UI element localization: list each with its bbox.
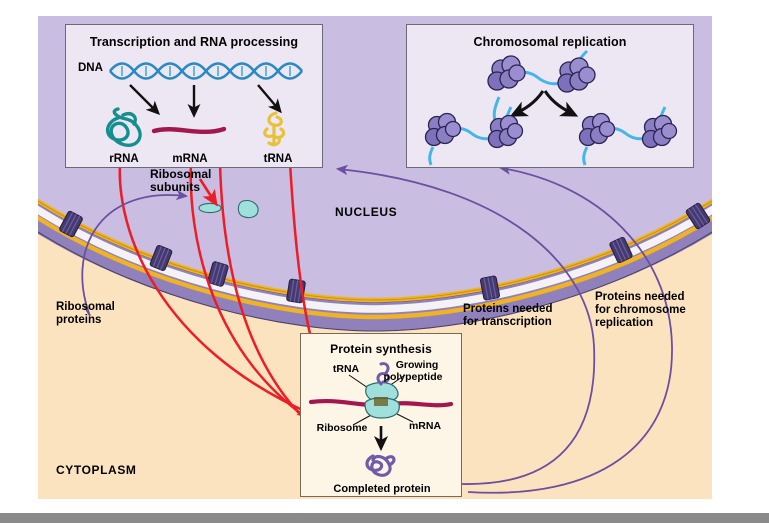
- ribosomal-subunits-line1: Ribosomal: [150, 168, 211, 181]
- mrna-strand-icon: [154, 129, 224, 132]
- dna-double-helix-icon: [110, 64, 302, 79]
- transcription-arrows: [130, 85, 280, 115]
- proteins-replication-line3: replication: [595, 317, 686, 330]
- proteins-transcription-line1: Proteins needed: [463, 303, 552, 316]
- folded-protein-icon: [367, 456, 394, 475]
- ribosomal-subunits-line2: subunits: [150, 181, 211, 194]
- replication-artwork: [407, 25, 695, 169]
- ribosome-icon: [365, 383, 399, 418]
- chromosome-nucleosome-strand-icon: [580, 107, 677, 165]
- bottom-status-bar: [0, 513, 769, 523]
- chromosome-nucleosome-strand-icon: [426, 107, 523, 165]
- chromosome-nucleosome-strand-icon: [488, 51, 595, 121]
- rrna-molecule-icon: [108, 109, 140, 145]
- nucleosome-bead-cluster: [558, 58, 595, 92]
- bottom-bar-segment: [0, 513, 298, 523]
- nucleosome-bead-cluster: [488, 56, 525, 90]
- trna-molecule-icon: [265, 113, 284, 145]
- chromosomal-replication-panel: Chromosomal replication: [406, 24, 694, 168]
- replication-branch-arrows: [513, 91, 575, 115]
- proteins-transcription-callout: Proteins needed for transcription: [463, 303, 552, 329]
- ribosomal-proteins-line2: proteins: [56, 314, 115, 327]
- eukaryotic-cell: Transcription and RNA processing DNA: [38, 16, 712, 499]
- ribosomal-subunits-callout: Ribosomal subunits: [150, 168, 211, 195]
- nucleus-label: NUCLEUS: [335, 206, 397, 219]
- cytoplasm-label: CYTOPLASM: [56, 464, 137, 477]
- proteins-replication-callout: Proteins needed for chromosome replicati…: [595, 291, 686, 330]
- ribosomal-proteins-line1: Ribosomal: [56, 301, 115, 314]
- proteins-transcription-line2: for transcription: [463, 316, 552, 329]
- protein-synthesis-panel: Protein synthesis: [300, 333, 462, 497]
- ribosomal-proteins-callout: Ribosomal proteins: [56, 301, 115, 327]
- proteins-replication-line2: for chromosome: [595, 304, 686, 317]
- transcription-panel: Transcription and RNA processing DNA: [65, 24, 323, 168]
- proteins-replication-line1: Proteins needed: [595, 291, 686, 304]
- figure-canvas: Transcription and RNA processing DNA: [0, 0, 769, 523]
- nuclear-pore-icon: [480, 276, 500, 301]
